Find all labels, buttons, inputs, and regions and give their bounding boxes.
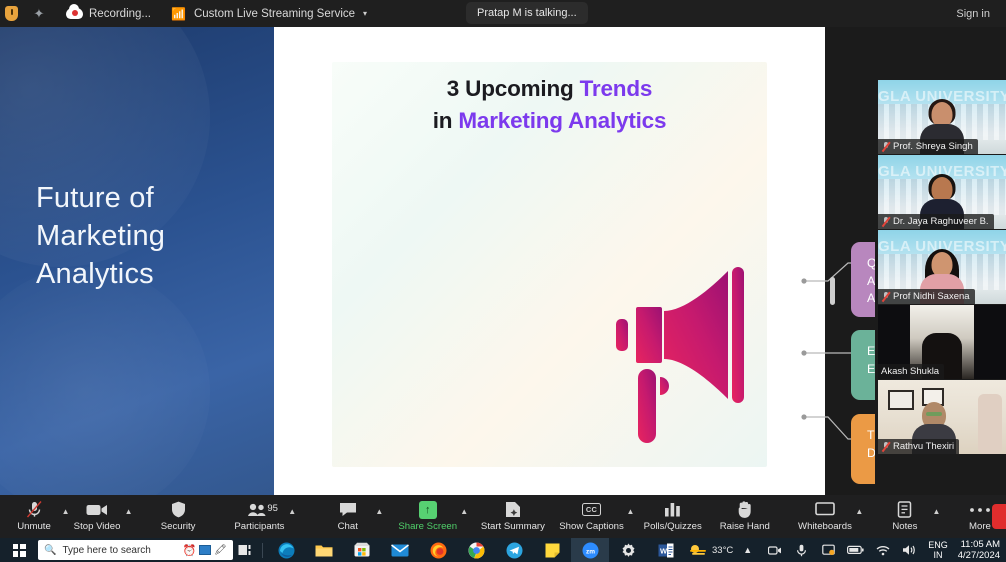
zoom-meeting-toolbar: Unmute ▲ Stop Video ▲ Security: [0, 495, 1006, 538]
end-meeting-button[interactable]: [992, 504, 1006, 529]
microphone-icon[interactable]: [789, 538, 814, 562]
recording-cloud-icon: [66, 8, 83, 19]
slide-title-line1-accent: Trends: [580, 76, 653, 101]
share-screen-icon: ↑: [419, 501, 437, 518]
firefox-icon[interactable]: [419, 538, 457, 562]
volume-icon[interactable]: [897, 538, 922, 562]
slide-left-title: Future ofMarketingAnalytics: [36, 179, 165, 293]
mail-icon[interactable]: [381, 538, 419, 562]
slide-title: 3 Upcoming Trends in Marketing Analytics: [274, 73, 825, 137]
participant-name: Rathvu Thexiri: [893, 441, 954, 452]
system-tray: 33°C ▲ ENG IN: [685, 538, 1006, 562]
stop-video-button[interactable]: Stop Video: [71, 495, 123, 538]
participant-tile[interactable]: GLA UNIVERSITY Prof Nidhi Saxena: [878, 230, 1006, 304]
microphone-muted-icon: [27, 501, 42, 518]
share-screen-button[interactable]: ↑ Share Screen: [397, 495, 459, 538]
slide-title-line1-plain: 3 Upcoming: [447, 76, 580, 101]
megaphone-icon: [614, 259, 794, 469]
sticky-notes-icon[interactable]: [533, 538, 571, 562]
notes-icon: [897, 501, 912, 518]
video-options-chevron-icon[interactable]: ▲: [123, 495, 134, 538]
participant-name: Prof. Shreya Singh: [893, 141, 973, 152]
chat-bubble-icon: [339, 501, 357, 518]
participants-button[interactable]: 95 Participants: [232, 495, 287, 538]
security-button[interactable]: Security: [152, 495, 204, 538]
raise-hand-icon: [737, 501, 752, 518]
language-line1: ENG: [928, 540, 948, 550]
battery-icon[interactable]: [843, 538, 868, 562]
language-indicator[interactable]: ENG IN: [928, 540, 948, 560]
chat-button[interactable]: Chat: [322, 495, 374, 538]
participant-name-bar: Rathvu Thexiri: [878, 439, 959, 454]
notes-label: Notes: [892, 521, 917, 532]
talking-indicator: Pratap M is talking...: [466, 2, 588, 24]
file-explorer-icon[interactable]: [305, 538, 343, 562]
participant-tile[interactable]: Akash Shukla: [878, 305, 1006, 379]
show-captions-label: Show Captions: [559, 521, 624, 532]
polls-bar-icon: [664, 501, 682, 518]
pen-widget-icon[interactable]: 🖍: [214, 545, 227, 556]
slide-title-line2-accent: Marketing Analytics: [458, 108, 666, 133]
trend-card-1: Quicker Decisions with AI-based Prescrip…: [851, 242, 875, 317]
whiteboards-chevron-icon[interactable]: ▲: [854, 495, 865, 538]
clock[interactable]: 11:05 AM 4/27/2024: [958, 539, 1000, 561]
clock-date: 4/27/2024: [958, 550, 1000, 561]
polls-quizzes-label: Polls/Quizzes: [644, 521, 702, 532]
svg-text:W: W: [660, 546, 668, 555]
participant-name-bar: Akash Shukla: [878, 364, 944, 379]
closed-captions-icon: CC: [582, 501, 601, 518]
chrome-icon[interactable]: [457, 538, 495, 562]
search-input[interactable]: 🔍 Type here to search ⏰ 🖍: [38, 540, 233, 560]
settings-icon[interactable]: [609, 538, 647, 562]
sparkle-icon[interactable]: ✦: [26, 4, 52, 24]
word-icon[interactable]: W: [647, 538, 685, 562]
participants-label: Participants: [234, 521, 284, 532]
chat-chevron-icon[interactable]: ▲: [374, 495, 385, 538]
microphone-muted-icon: [881, 291, 890, 302]
participant-tile[interactable]: GLA UNIVERSITY Dr. Jaya Raghuveer B.: [878, 155, 1006, 229]
whiteboard-icon: [815, 501, 835, 518]
weather-temperature[interactable]: 33°C: [712, 545, 733, 556]
captions-chevron-icon[interactable]: ▲: [625, 495, 636, 538]
shield-icon: [171, 501, 186, 518]
participants-count-badge: 95: [267, 503, 278, 514]
zoom-meeting-window: ✦ Recording... 📶 Custom Live Streaming S…: [0, 0, 1006, 562]
windows-start-icon[interactable]: [0, 538, 38, 562]
microphone-muted-icon: [881, 141, 890, 152]
microphone-muted-icon: [881, 441, 890, 452]
more-ellipsis-icon: [969, 501, 991, 518]
edge-icon[interactable]: [267, 538, 305, 562]
security-label: Security: [161, 521, 196, 532]
language-line2: IN: [933, 550, 942, 560]
notes-button[interactable]: Notes: [879, 495, 931, 538]
zoom-icon[interactable]: zm: [571, 538, 609, 562]
raise-hand-button[interactable]: Raise Hand: [717, 495, 772, 538]
recording-label: Recording...: [89, 8, 151, 20]
participant-name-bar: Dr. Jaya Raghuveer B.: [878, 214, 994, 229]
microphone-muted-icon: [881, 216, 890, 227]
unmute-label: Unmute: [17, 521, 51, 532]
svg-text:zm: zm: [585, 548, 594, 555]
windows-taskbar: 🔍 Type here to search ⏰ 🖍: [0, 538, 1006, 562]
share-options-chevron-icon[interactable]: ▲: [459, 495, 470, 538]
live-stream-selector[interactable]: 📶 Custom Live Streaming Service ▾: [171, 7, 367, 21]
stop-video-label: Stop Video: [74, 521, 121, 532]
show-captions-button[interactable]: CC Show Captions: [558, 495, 625, 538]
wifi-icon[interactable]: [870, 538, 895, 562]
chat-label: Chat: [338, 521, 358, 532]
participant-name: Dr. Jaya Raghuveer B.: [893, 216, 989, 227]
summary-doc-icon: [505, 501, 521, 518]
task-view-icon[interactable]: [233, 538, 258, 562]
whiteboards-button[interactable]: Whiteboards: [796, 495, 854, 538]
unmute-button[interactable]: Unmute: [8, 495, 60, 538]
search-placeholder: Type here to search: [62, 545, 150, 556]
more-label: More: [969, 521, 991, 532]
chevron-down-icon[interactable]: ▾: [363, 9, 367, 18]
raise-hand-label: Raise Hand: [720, 521, 770, 532]
microsoft-store-icon[interactable]: [343, 538, 381, 562]
desktop-widget-icon[interactable]: [199, 545, 211, 555]
slide-title-line2-plain: in: [433, 108, 459, 133]
weather-sun-icon[interactable]: [685, 538, 710, 562]
sign-in-button[interactable]: Sign in: [956, 0, 990, 27]
participant-tile[interactable]: Rathvu Thexiri: [878, 380, 1006, 454]
notes-chevron-icon[interactable]: ▲: [931, 495, 942, 538]
participant-filmstrip: GLA UNIVERSITY Prof. Shreya Singh GLA UN…: [878, 80, 1006, 455]
participant-name: Akash Shukla: [881, 366, 939, 377]
shield-badge-icon[interactable]: [5, 6, 18, 21]
shared-screen-stage: Future ofMarketingAnalytics 3 Upcoming T…: [0, 27, 875, 495]
recording-indicator[interactable]: Recording...: [66, 8, 151, 20]
start-summary-label: Start Summary: [481, 521, 545, 532]
participant-name-bar: Prof. Shreya Singh: [878, 139, 978, 154]
show-hidden-icons-caret[interactable]: ▲: [735, 538, 760, 562]
participant-name: Prof Nidhi Saxena: [893, 291, 970, 302]
trend-card-2: Enhancing Customer Experience: [851, 330, 875, 400]
telegram-icon[interactable]: [495, 538, 533, 562]
panel-resize-handle[interactable]: [830, 277, 835, 305]
polls-quizzes-button[interactable]: Polls/Quizzes: [642, 495, 703, 538]
participant-tile[interactable]: GLA UNIVERSITY Prof. Shreya Singh: [878, 80, 1006, 154]
audio-options-chevron-icon[interactable]: ▲: [60, 495, 71, 538]
live-stream-label: Custom Live Streaming Service: [194, 8, 355, 20]
zoom-top-bar: ✦ Recording... 📶 Custom Live Streaming S…: [0, 0, 1006, 27]
start-summary-button[interactable]: Start Summary: [480, 495, 546, 538]
meet-now-icon[interactable]: [762, 538, 787, 562]
clock-time: 11:05 AM: [961, 539, 1000, 550]
trend-card-3: The Climb of Real Time Data Analytics: [851, 414, 875, 484]
camera-icon: [86, 501, 108, 518]
whiteboards-label: Whiteboards: [798, 521, 852, 532]
clock-widget-icon[interactable]: ⏰: [183, 544, 197, 557]
slide-left-panel: Future ofMarketingAnalytics: [0, 27, 274, 495]
share-screen-label: Share Screen: [398, 521, 457, 532]
participants-chevron-icon[interactable]: ▲: [287, 495, 298, 538]
participant-name-bar: Prof Nidhi Saxena: [878, 289, 975, 304]
search-icon: 🔍: [44, 545, 56, 556]
taskbar-divider: [262, 543, 263, 558]
slide-content: 3 Upcoming Trends in Marketing Analytics: [274, 27, 825, 495]
rss-broadcast-icon: 📶: [171, 7, 186, 21]
screen-snip-icon[interactable]: [816, 538, 841, 562]
